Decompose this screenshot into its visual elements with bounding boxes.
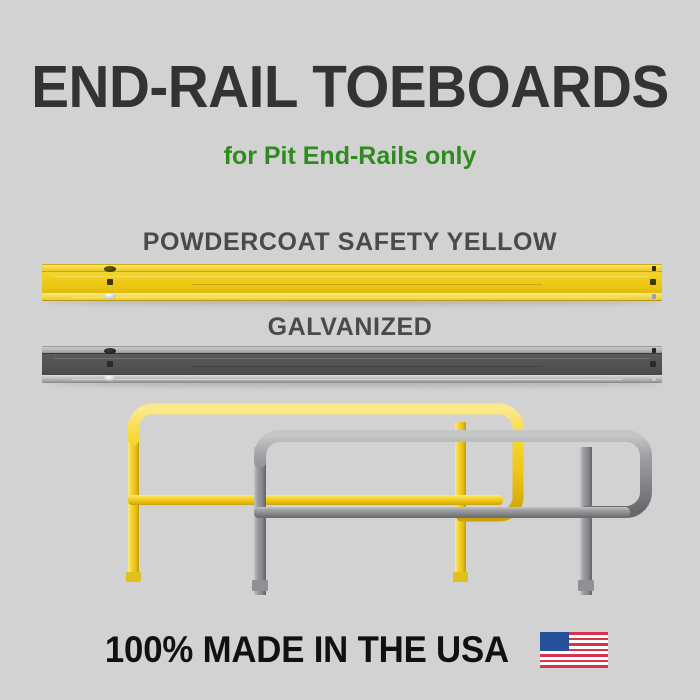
usa-flag-icon <box>540 632 608 668</box>
toeboard-yellow-shade-line <box>192 284 542 285</box>
usa-flag-canton <box>540 632 569 651</box>
toeboard-yellow-bolt-left <box>107 279 113 285</box>
toeboard-yellow <box>42 264 662 301</box>
toeboard-galvanized-shade-line <box>192 366 542 367</box>
toeboard-galvanized-lower-line <box>72 379 622 380</box>
toeboard-galvanized <box>42 346 662 383</box>
footer: 100% MADE IN THE USA <box>0 622 700 678</box>
toeboard-galvanized-slot-right-bottom <box>652 376 656 381</box>
toeboard-galvanized-bolt-left <box>107 361 113 367</box>
railing-yellow-foot-left <box>126 572 141 582</box>
toeboard-yellow-body <box>42 264 662 301</box>
railing-assembly-illustration <box>0 392 700 597</box>
page-subtitle: for Pit End-Rails only <box>0 142 700 170</box>
railing-yellow-foot-right <box>453 572 468 582</box>
product-label-galvanized: GALVANIZED <box>0 313 700 341</box>
toeboard-yellow-slot-left-bottom <box>104 293 116 299</box>
railing-gray-post-left <box>254 447 266 595</box>
toeboard-galvanized-slot-left-bottom <box>104 375 116 381</box>
toeboard-yellow-bolt-right <box>650 279 656 285</box>
railing-gray-foot-left <box>252 580 268 591</box>
product-poster: END-RAIL TOEBOARDS for Pit End-Rails onl… <box>0 0 700 700</box>
toeboard-yellow-lower-line <box>72 297 622 298</box>
toeboard-galvanized-highlight-line <box>54 358 650 359</box>
toeboard-galvanized-body <box>42 346 662 383</box>
toeboard-yellow-slot-left-top <box>104 266 116 272</box>
made-in-usa-text: 100% MADE IN THE USA <box>105 630 509 670</box>
railing-gray-post-right <box>580 447 592 595</box>
railing-gray-foot-right <box>578 580 594 591</box>
railing-galvanized <box>0 436 646 595</box>
page-title: END-RAIL TOEBOARDS <box>14 57 686 117</box>
toeboard-galvanized-bolt-right <box>650 361 656 367</box>
railing-gray-mid-rail <box>254 507 630 518</box>
toeboard-yellow-slot-right-top <box>652 266 656 271</box>
toeboard-galvanized-slot-right-top <box>652 348 656 353</box>
product-label-yellow: POWDERCOAT SAFETY YELLOW <box>0 228 700 256</box>
toeboard-yellow-highlight-line <box>54 276 650 277</box>
toeboard-galvanized-slot-left-top <box>104 348 116 354</box>
railing-yellow-mid-rail <box>128 495 503 505</box>
toeboard-yellow-slot-right-bottom <box>652 294 656 299</box>
